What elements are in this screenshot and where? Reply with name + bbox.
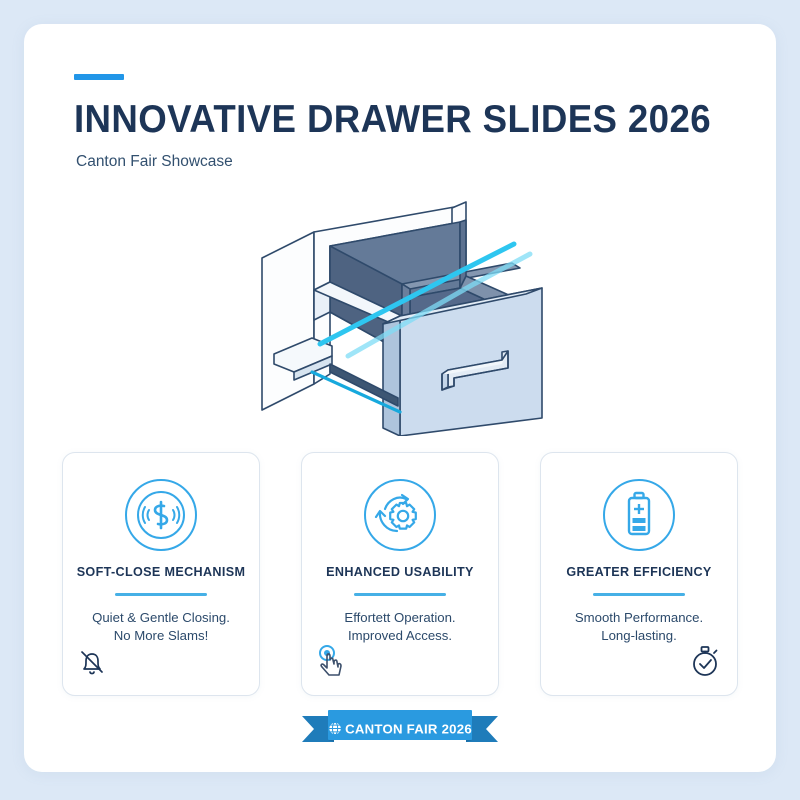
accent-bar [74, 74, 124, 80]
gear-refresh-circle-icon [302, 475, 498, 555]
card-divider [115, 593, 207, 596]
feature-card-soft-close[interactable]: SOFT-CLOSE MECHANISM Quiet & Gentle Clos… [62, 452, 260, 696]
stopwatch-check-icon [687, 642, 725, 685]
ribbon-banner: CANTON FAIR 2026 [24, 708, 776, 750]
feature-cards: SOFT-CLOSE MECHANISM Quiet & Gentle Clos… [62, 452, 738, 696]
drawer-illustration [252, 196, 612, 436]
card-body-line-1: Smooth Performance. [541, 609, 737, 628]
drawer-svg [252, 196, 612, 436]
page-title: INNOVATIVE DRAWER SLIDES 2026 [74, 100, 676, 141]
infographic-panel: INNOVATIVE DRAWER SLIDES 2026 Canton Fai… [24, 24, 776, 772]
feature-card-enhanced-usability[interactable]: ENHANCED USABILITY Effortett Operation. … [301, 452, 499, 696]
sound-dollar-circle-icon [63, 475, 259, 555]
feature-card-greater-efficiency[interactable]: GREATER EFFICIENCY Smooth Performance. L… [540, 452, 738, 696]
card-body-line-1: Effortett Operation. [302, 609, 498, 628]
card-divider [354, 593, 446, 596]
page-subtitle: Canton Fair Showcase [76, 153, 714, 171]
card-body: Effortett Operation. Improved Access. [302, 609, 498, 646]
card-body-line-2: No More Slams! [63, 627, 259, 646]
card-title: SOFT-CLOSE MECHANISM [63, 565, 259, 579]
card-title: ENHANCED USABILITY [302, 565, 498, 579]
battery-plus-circle-icon [541, 475, 737, 555]
header: INNOVATIVE DRAWER SLIDES 2026 Canton Fai… [74, 74, 714, 171]
card-body: Smooth Performance. Long-lasting. [541, 609, 737, 646]
bell-muted-icon [75, 646, 109, 685]
card-divider [593, 593, 685, 596]
tap-hand-icon [314, 642, 352, 685]
card-body-line-1: Quiet & Gentle Closing. [63, 609, 259, 628]
card-title: GREATER EFFICIENCY [541, 565, 737, 579]
ribbon-shape [302, 708, 498, 750]
card-body: Quiet & Gentle Closing. No More Slams! [63, 609, 259, 646]
